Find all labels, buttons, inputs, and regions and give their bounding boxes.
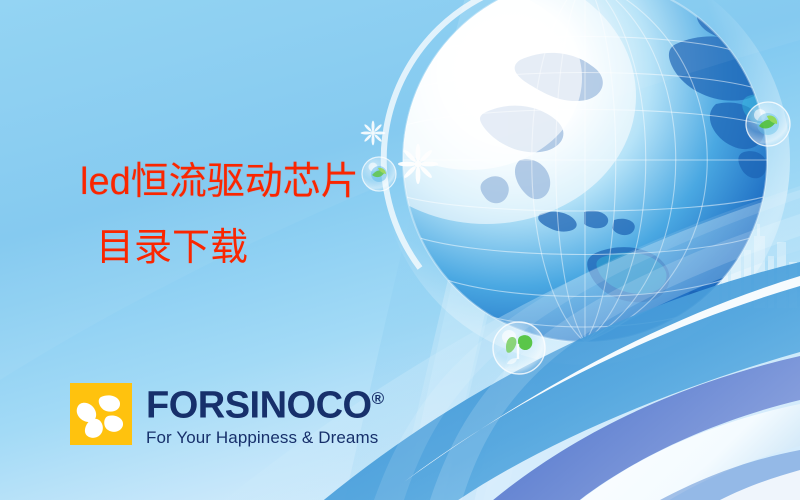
logo-text-block: FORSINOCO® For Your Happiness & Dreams xyxy=(146,380,384,448)
logo-name-word: FORSINOCO xyxy=(146,385,372,427)
marketing-banner: led恒流驱动芯片 目录下载 FORSINOCO® For Your Happi… xyxy=(0,0,800,500)
registered-trademark-icon: ® xyxy=(372,389,384,408)
logo-company-name: FORSINOCO® xyxy=(146,380,384,425)
logo-tagline: For Your Happiness & Dreams xyxy=(146,428,384,448)
four-petal-flower-icon xyxy=(70,383,132,445)
company-logo: FORSINOCO® For Your Happiness & Dreams xyxy=(70,380,384,448)
